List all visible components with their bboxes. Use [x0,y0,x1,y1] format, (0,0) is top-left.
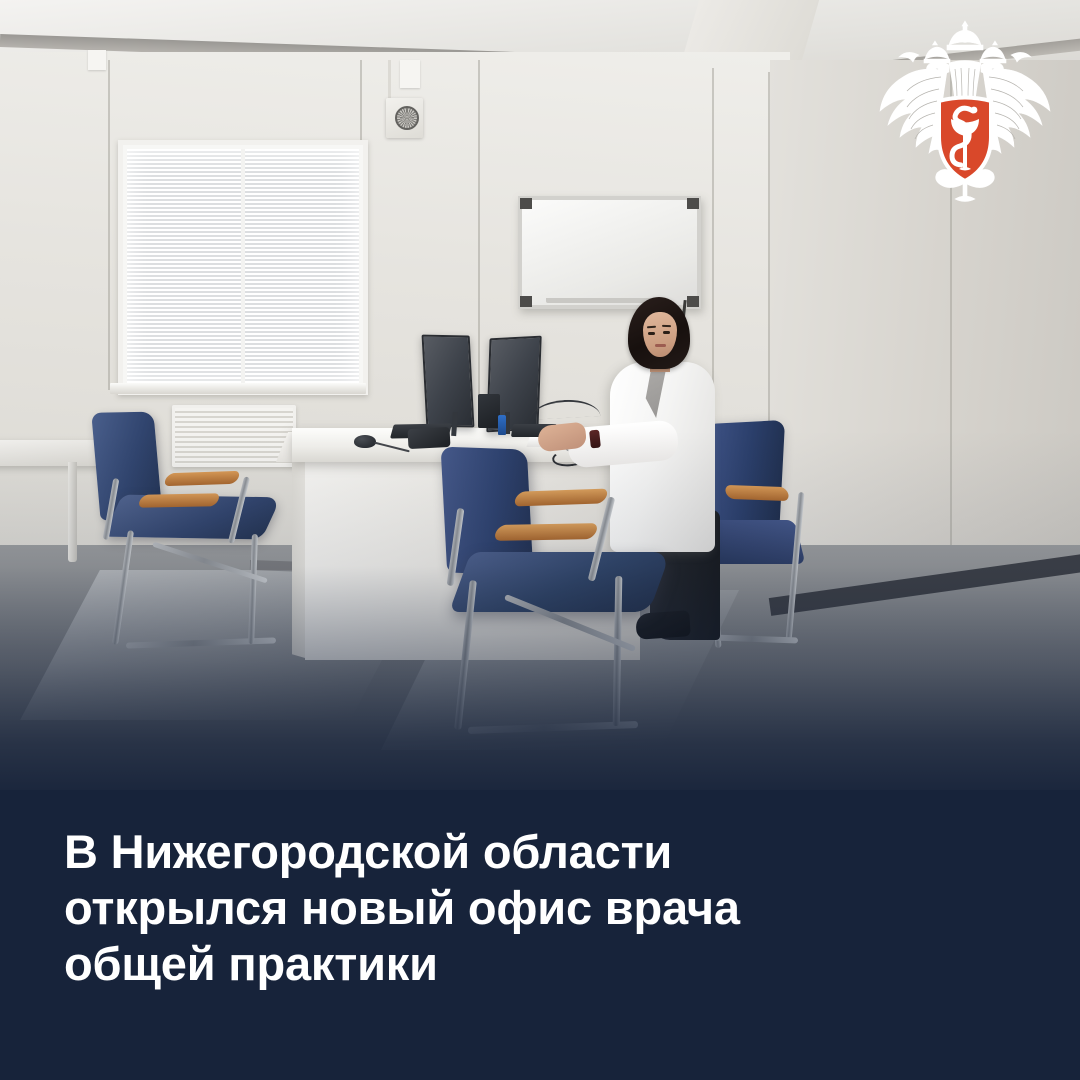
desktop-computer-unit [478,394,500,428]
chair-right-armrest [724,485,790,501]
desk-device [408,427,451,449]
doctor-wristwatch [589,430,601,449]
social-info-card: В Нижегородской области открылся новый о… [0,0,1080,1080]
doctor-mouth [655,344,666,347]
whiteboard-corner [520,296,532,307]
window-with-blinds [118,140,368,395]
examination-couch-leg [68,462,77,562]
whiteboard-corner [687,296,699,307]
chair-center-seat [449,552,671,612]
russian-ministry-of-health-emblem-icon [875,15,1055,210]
mouse [354,435,376,448]
headline-line-3: общей практики [64,936,964,992]
blinds-divider [241,149,245,386]
whiteboard-corner [520,198,532,209]
headline-line-2: открылся новый офис врача [64,880,964,936]
window-sill [110,383,366,394]
headline: В Нижегородской области открылся новый о… [64,824,964,992]
whiteboard [518,196,701,309]
monitor-left [422,335,475,428]
doctor-eye [663,331,670,334]
chair-left-armrest [163,471,241,487]
whiteboard-corner [687,198,699,209]
doctor-eyebrow [662,325,671,327]
doctor-shoe [635,610,691,640]
chair-left-armrest [137,493,221,507]
blue-bottle [498,415,506,435]
wall-ventilation-fan-icon [386,98,423,138]
wall-junction-box [88,50,106,70]
wall-junction-box [400,60,420,88]
wall-panel-seam [108,60,110,390]
chair-center-armrest [493,523,600,541]
doctor-eye [648,332,655,335]
headline-line-1: В Нижегородской области [64,824,964,880]
